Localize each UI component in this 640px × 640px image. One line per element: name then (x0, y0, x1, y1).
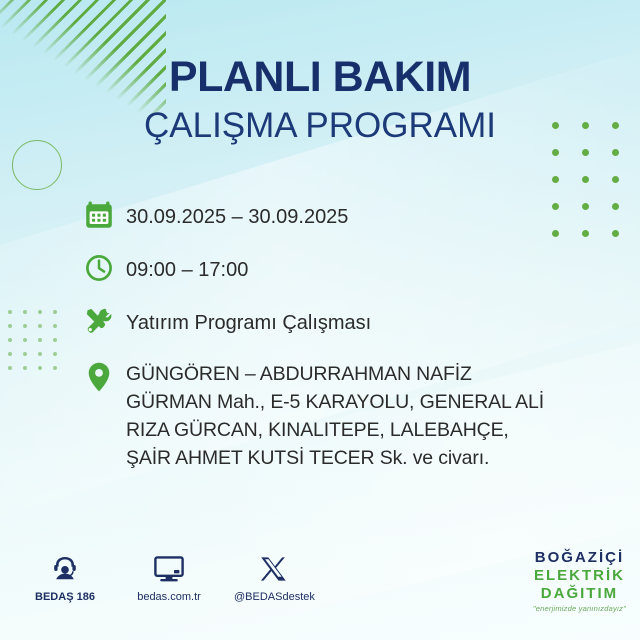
brand-slogan: "enerjimizde yanınızdayız" (533, 605, 626, 613)
calendar-icon (84, 198, 126, 238)
dot-grid-left-decoration (8, 310, 68, 380)
x-twitter-icon (234, 552, 312, 586)
detail-text-time: 09:00 – 17:00 (126, 251, 248, 284)
headset-support-icon (26, 552, 104, 586)
planned-maintenance-poster: PLANLI BAKIM ÇALIŞMA PROGRAMI (0, 0, 640, 640)
circle-outline-decoration (12, 140, 62, 190)
contact-call-center[interactable]: BEDAŞ 186 (26, 552, 104, 603)
location-pin-icon (84, 357, 126, 397)
brand-line-elektrik: ELEKTRİK (533, 568, 626, 583)
detail-row-date: 30.09.2025 – 30.09.2025 (84, 198, 554, 238)
detail-row-location: GÜNGÖREN – ABDURRAHMAN NAFİZ GÜRMAN Mah.… (84, 357, 554, 472)
brand-line-bogazici: BOĞAZİÇİ (533, 550, 626, 565)
contact-channels: BEDAŞ 186 bedas.com.tr (26, 552, 312, 603)
contact-x-account[interactable]: @BEDASdestek (234, 552, 312, 603)
page-title: PLANLI BAKIM (0, 56, 640, 99)
poster-footer: BEDAŞ 186 bedas.com.tr (0, 550, 640, 624)
contact-label-website: bedas.com.tr (130, 591, 208, 603)
tools-icon (84, 304, 126, 344)
contact-label-call-center: BEDAŞ 186 (26, 591, 104, 603)
bedas-logo: BOĞAZİÇİ ELEKTRİK DAĞITIM "enerjimizde y… (533, 550, 626, 613)
detail-row-time: 09:00 – 17:00 (84, 251, 554, 291)
contact-website[interactable]: bedas.com.tr (130, 552, 208, 603)
monitor-icon (130, 552, 208, 586)
detail-text-location: GÜNGÖREN – ABDURRAHMAN NAFİZ GÜRMAN Mah.… (126, 357, 554, 472)
detail-text-worktype: Yatırım Programı Çalışması (126, 304, 371, 337)
page-subtitle: ÇALIŞMA PROGRAMI (0, 108, 640, 143)
maintenance-details: 30.09.2025 – 30.09.2025 09:00 – 17:00 (84, 198, 554, 485)
clock-icon (84, 251, 126, 291)
contact-label-x-account: @BEDASdestek (234, 591, 312, 603)
detail-text-date: 30.09.2025 – 30.09.2025 (126, 198, 348, 231)
detail-row-worktype: Yatırım Programı Çalışması (84, 304, 554, 344)
poster-header: PLANLI BAKIM ÇALIŞMA PROGRAMI (0, 56, 640, 143)
brand-line-dagitim: DAĞITIM (533, 586, 626, 601)
